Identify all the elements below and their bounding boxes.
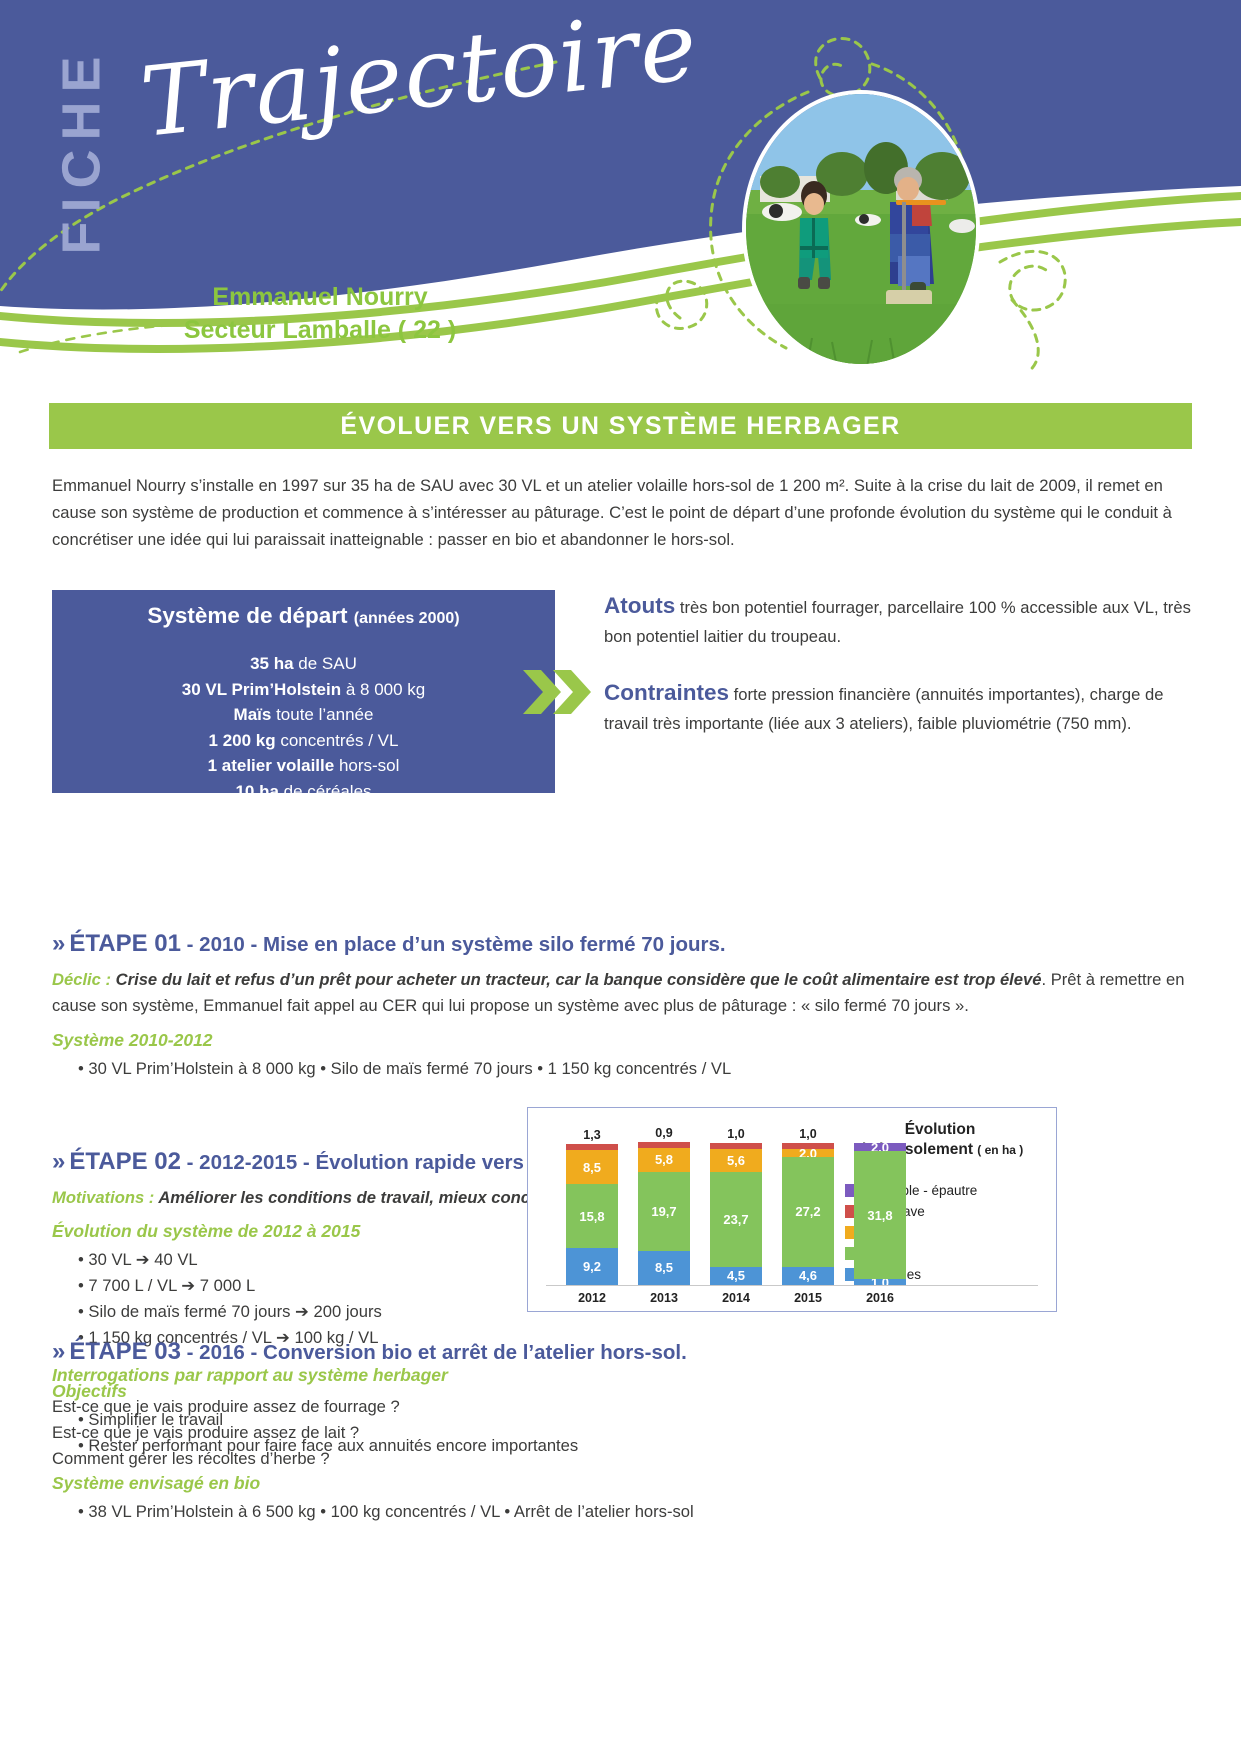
- etape-01-bullets: • 30 VL Prim’Holstein à 8 000 kg • Silo …: [52, 1056, 1192, 1082]
- start-system-line-strong: 30 VL Prim’Holstein: [182, 680, 341, 699]
- bar-segment-ma-s: 5,8: [638, 1148, 690, 1171]
- etape-03-planned: • 38 VL Prim’Holstein à 6 500 kg • 100 k…: [52, 1499, 1192, 1525]
- x-axis-label-2012: 2012: [566, 1291, 618, 1305]
- bar-group-2012: 1,38,515,89,2: [566, 1144, 618, 1285]
- bar-segment-c-r-ales: 8,5: [638, 1251, 690, 1285]
- strengths-constraints: Atouts très bon potentiel fourrager, par…: [604, 588, 1194, 737]
- farmer-identity: Emmanuel Nourry Secteur Lamballe ( 22 ): [0, 281, 640, 347]
- page-header: FICHE Trajectoire: [0, 0, 1241, 372]
- x-axis-label-2015: 2015: [782, 1291, 834, 1305]
- bar-segment-c-r-ales: 4,5: [710, 1267, 762, 1285]
- etape-01-subtitle: - 2010 - Mise en place d’un système silo…: [181, 933, 726, 956]
- etape-01-system-heading: Système 2010-2012: [52, 1030, 1192, 1051]
- etape-01: »ÉTAPE 01 - 2010 - Mise en place d’un sy…: [52, 930, 1192, 1082]
- start-system-line: 10 ha de céréales: [52, 779, 555, 805]
- bar-segment-c-r-ales: 9,2: [566, 1248, 618, 1285]
- start-system-line-rest: de céréales: [279, 782, 372, 801]
- start-system-line-rest: toute l’année: [271, 705, 373, 724]
- etape-03-title: ÉTAPE 03: [69, 1338, 181, 1365]
- chart-title-line1: Évolution: [840, 1120, 1040, 1140]
- bar-segment-f-verole-pautre: 2,0: [854, 1143, 906, 1151]
- list-item: • Rester performant pour faire face aux …: [78, 1433, 1192, 1459]
- etape-03-objectives: • Simplifier le travail • Rester perform…: [52, 1407, 1192, 1459]
- bar-top-label: 1,0: [782, 1127, 834, 1141]
- etape-02-title: ÉTAPE 02: [69, 1148, 181, 1175]
- assolement-chart: Évolution de l’assolement ( en ha ) Féve…: [527, 1107, 1057, 1312]
- etape-03: »ÉTAPE 03 - 2016 - Conversion bio et arr…: [52, 1338, 1192, 1524]
- start-system-line-strong: 1 atelier volaille: [208, 756, 335, 775]
- bar-segment-prairie: 27,2: [782, 1157, 834, 1266]
- start-system-line-rest: hors-sol: [334, 756, 399, 775]
- start-system-line-rest: de SAU: [294, 654, 357, 673]
- constraints-block: Contraintes forte pression financière (a…: [604, 675, 1194, 738]
- start-system-title-main: Système de départ: [147, 603, 347, 628]
- constraints-keyword: Contraintes: [604, 680, 729, 705]
- start-system-line: Maïs toute l’année: [52, 702, 555, 728]
- bar-segment-ma-s: 2,0: [782, 1149, 834, 1157]
- fiche-label: FICHE: [51, 48, 113, 255]
- start-system-line-strong: 10 ha: [235, 782, 278, 801]
- strengths-keyword: Atouts: [604, 593, 675, 618]
- intro-paragraph: Emmanuel Nourry s’installe en 1997 sur 3…: [52, 473, 1192, 554]
- start-system-line-rest: à 8 000 kg: [341, 680, 425, 699]
- chevron-right-icon: »: [52, 930, 62, 957]
- start-system-line: 1 atelier volaille hors-sol: [52, 753, 555, 779]
- bar-segment-prairie: 23,7: [710, 1172, 762, 1267]
- strengths-text: très bon potentiel fourrager, parcellair…: [604, 598, 1191, 646]
- start-system-line: 30 VL Prim’Holstein à 8 000 kg: [52, 677, 555, 703]
- x-axis-label-2013: 2013: [638, 1291, 690, 1305]
- double-chevron-icon: [521, 668, 593, 721]
- bar-segment-prairie: 15,8: [566, 1184, 618, 1248]
- bar-segment-ma-s: 8,5: [566, 1150, 618, 1184]
- farmer-sector: Secteur Lamballe ( 22 ): [0, 314, 640, 347]
- start-system-line: 35 ha de SAU: [52, 651, 555, 677]
- etape-03-subtitle: - 2016 - Conversion bio et arrêt de l’at…: [181, 1341, 687, 1364]
- etape-03-heading: »ÉTAPE 03 - 2016 - Conversion bio et arr…: [52, 1338, 1192, 1367]
- etape-02-motivation-label: Motivations :: [52, 1188, 154, 1207]
- chart-unit: ( en ha ): [977, 1143, 1023, 1157]
- section-title-banner: ÉVOLUER VERS UN SYSTÈME HERBAGER: [49, 403, 1192, 449]
- bar-top-label: 1,0: [710, 1127, 762, 1141]
- list-item: • 38 VL Prim’Holstein à 6 500 kg • 100 k…: [78, 1499, 1192, 1525]
- bar-group-2016: 2,031,81,0: [854, 1143, 906, 1285]
- start-system-box: Système de départ (années 2000) 35 ha de…: [52, 590, 555, 793]
- bar-group-2013: 0,95,819,78,5: [638, 1142, 690, 1285]
- x-axis-label-2016: 2016: [854, 1291, 906, 1305]
- bar-segment-prairie: 31,8: [854, 1151, 906, 1279]
- chart-plot-area: Évolution de l’assolement ( en ha ) Féve…: [528, 1108, 1056, 1311]
- start-system-line-strong: Maïs: [234, 705, 272, 724]
- photo-illustration: [746, 94, 980, 368]
- etape-01-heading: »ÉTAPE 01 - 2010 - Mise en place d’un sy…: [52, 930, 1192, 959]
- list-item: • 30 VL Prim’Holstein à 8 000 kg • Silo …: [78, 1056, 1192, 1082]
- etape-01-trigger-label: Déclic :: [52, 970, 111, 989]
- bar-segment-c-r-ales: 1,0: [854, 1279, 906, 1285]
- etape-01-trigger-bold: Crise du lait et refus d’un prêt pour ac…: [111, 970, 1041, 989]
- farm-photo: [742, 90, 980, 368]
- etape-01-trigger: Déclic : Crise du lait et refus d’un prê…: [52, 967, 1192, 1020]
- etape-03-objectives-heading: Objectifs: [52, 1381, 1192, 1402]
- chevron-right-icon: »: [52, 1148, 62, 1175]
- x-axis-label-2014: 2014: [710, 1291, 762, 1305]
- bar-top-label: 0,9: [638, 1126, 690, 1140]
- start-system-line-strong: 1 200 kg: [209, 731, 276, 750]
- bar-group-2014: 1,05,623,74,5: [710, 1143, 762, 1285]
- start-system-line-rest: concentrés / VL: [276, 731, 399, 750]
- etape-03-planned-heading: Système envisagé en bio: [52, 1473, 1192, 1494]
- start-system-title: Système de départ (années 2000): [52, 603, 555, 629]
- start-system-title-suffix: (années 2000): [354, 610, 460, 627]
- bar-group-2015: 1,02,027,24,6: [782, 1143, 834, 1285]
- bar-segment-c-r-ales: 4,6: [782, 1267, 834, 1286]
- farmer-name: Emmanuel Nourry: [0, 281, 640, 314]
- start-system-line-strong: 35 ha: [250, 654, 293, 673]
- list-item: • Simplifier le travail: [78, 1407, 1192, 1433]
- bar-segment-ma-s: 5,6: [710, 1149, 762, 1172]
- start-system-line: 1 200 kg concentrés / VL: [52, 728, 555, 754]
- chevron-right-icon: »: [52, 1338, 62, 1365]
- etape-01-title: ÉTAPE 01: [69, 930, 181, 957]
- section-title-text: ÉVOLUER VERS UN SYSTÈME HERBAGER: [340, 412, 900, 441]
- bar-top-label: 1,3: [566, 1128, 618, 1142]
- strengths-block: Atouts très bon potentiel fourrager, par…: [604, 588, 1194, 651]
- bar-segment-prairie: 19,7: [638, 1172, 690, 1251]
